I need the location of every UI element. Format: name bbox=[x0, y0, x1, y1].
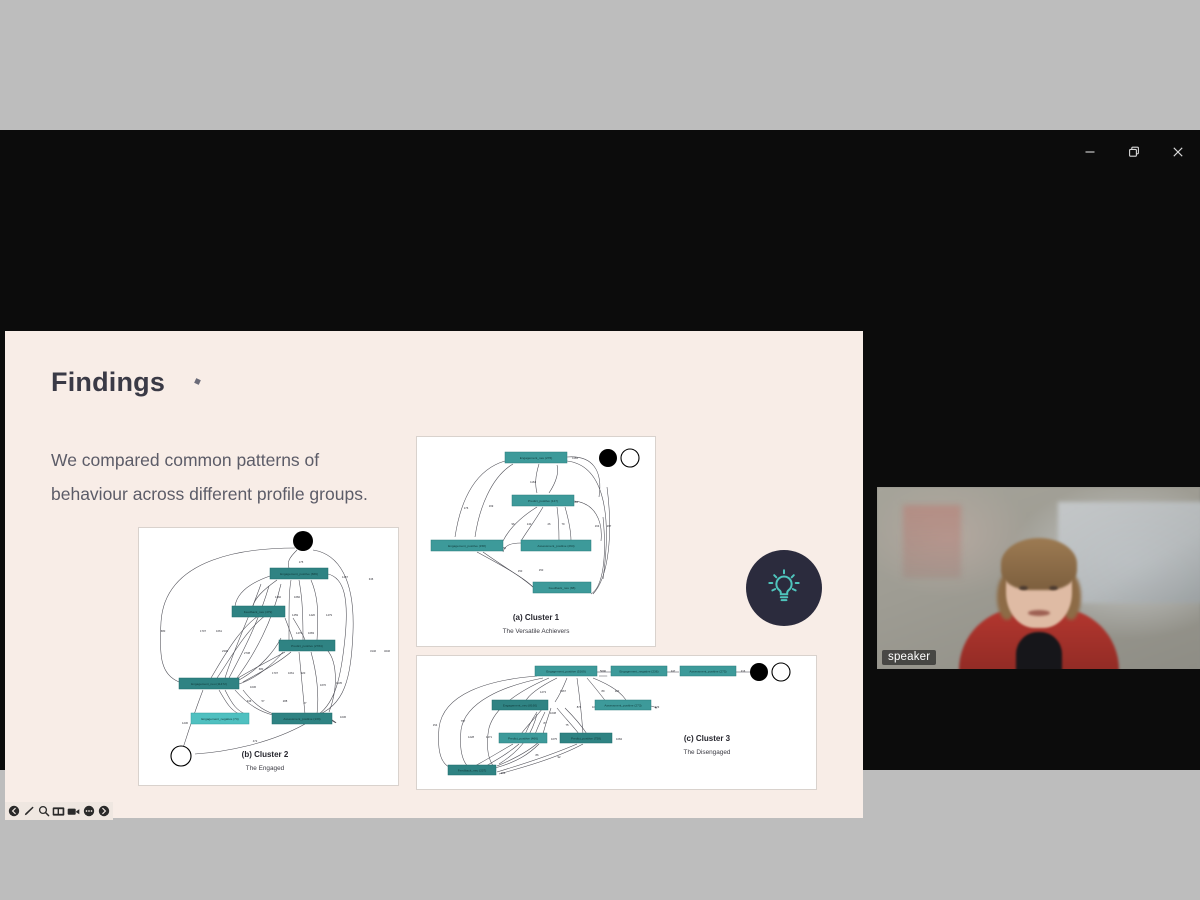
end-node bbox=[772, 663, 790, 681]
diagram-node: Assessment_positive (264) bbox=[521, 540, 591, 551]
svg-text:(a) Cluster 1: (a) Cluster 1 bbox=[513, 613, 560, 622]
svg-text:680: 680 bbox=[161, 629, 166, 633]
start-node bbox=[599, 449, 617, 467]
speaker-mouth bbox=[1028, 610, 1050, 616]
screen-root: Findings We compared common patterns of … bbox=[0, 0, 1200, 900]
svg-text:216: 216 bbox=[741, 669, 746, 673]
svg-text:Engagement_neu (276): Engagement_neu (276) bbox=[520, 456, 553, 460]
speaker-hair bbox=[1001, 538, 1077, 590]
diagram-node: Predict_positive (758) bbox=[560, 733, 612, 743]
svg-text:1479: 1479 bbox=[326, 613, 332, 617]
speaker-shirt bbox=[1016, 632, 1062, 669]
speaker-name-label: speaker bbox=[882, 650, 936, 665]
diagram-node: Engagement_neu (11472) bbox=[179, 678, 239, 689]
svg-text:The Engaged: The Engaged bbox=[246, 765, 285, 772]
svg-text:96: 96 bbox=[512, 522, 515, 526]
speaker-video-tile[interactable]: speaker bbox=[877, 487, 1200, 669]
svg-text:Predict_positive (147): Predict_positive (147) bbox=[528, 499, 558, 503]
right-arrow-circle-icon[interactable] bbox=[97, 805, 110, 818]
svg-text:Engagement_negative (74): Engagement_negative (74) bbox=[201, 717, 238, 721]
svg-text:2738: 2738 bbox=[244, 651, 250, 655]
magnifier-icon[interactable] bbox=[37, 805, 50, 818]
left-arrow-circle-icon[interactable] bbox=[7, 805, 20, 818]
svg-text:1164: 1164 bbox=[572, 456, 578, 460]
svg-text:266: 266 bbox=[501, 771, 506, 775]
svg-text:247: 247 bbox=[671, 669, 676, 673]
svg-text:3146: 3146 bbox=[370, 649, 376, 653]
svg-text:1230: 1230 bbox=[182, 721, 188, 725]
svg-text:Predict_positive (758): Predict_positive (758) bbox=[571, 737, 601, 741]
svg-text:Assessment_positive (273): Assessment_positive (273) bbox=[604, 704, 641, 708]
svg-text:767: 767 bbox=[461, 719, 466, 723]
svg-text:5090: 5090 bbox=[600, 669, 606, 673]
svg-text:Predict_positive (2784): Predict_positive (2784) bbox=[291, 644, 323, 648]
svg-text:26: 26 bbox=[548, 522, 551, 526]
svg-text:Assessment_positive (275): Assessment_positive (275) bbox=[689, 670, 726, 674]
svg-text:150: 150 bbox=[539, 568, 544, 572]
svg-text:Engagement_neu (11472): Engagement_neu (11472) bbox=[191, 682, 227, 686]
diagram-node: Engagement_negative (74) bbox=[191, 713, 249, 724]
start-node bbox=[293, 531, 313, 551]
presentation-window: Findings We compared common patterns of … bbox=[0, 130, 1200, 770]
svg-text:75: 75 bbox=[566, 723, 569, 727]
svg-text:1482: 1482 bbox=[275, 595, 281, 599]
slides-grid-icon[interactable] bbox=[52, 805, 65, 818]
end-node bbox=[621, 449, 639, 467]
minimize-button[interactable] bbox=[1068, 130, 1112, 174]
svg-text:57: 57 bbox=[262, 699, 265, 703]
svg-text:1707: 1707 bbox=[272, 671, 278, 675]
svg-text:1682: 1682 bbox=[294, 595, 300, 599]
svg-text:3246: 3246 bbox=[384, 649, 390, 653]
figure-cluster-2: 175 1482 1682 1420 1459 1479 1457 1479 1… bbox=[138, 527, 399, 786]
page-title: Findings bbox=[51, 367, 165, 398]
svg-text:154: 154 bbox=[433, 723, 438, 727]
diagram-node: Predict_positive (466) bbox=[499, 733, 547, 743]
svg-text:1471: 1471 bbox=[486, 735, 492, 739]
svg-text:1273: 1273 bbox=[540, 690, 546, 694]
svg-text:Engagement_neu (8160): Engagement_neu (8160) bbox=[503, 704, 537, 708]
diagram-node: Predict_positive (2784) bbox=[279, 640, 335, 651]
slide-body-text: We compared common patterns of behaviour… bbox=[51, 443, 381, 511]
svg-text:472: 472 bbox=[253, 739, 258, 743]
speaker-eye-right bbox=[1049, 586, 1058, 590]
svg-text:1661: 1661 bbox=[216, 629, 222, 633]
diagram-node: Engagement_positive (669) bbox=[270, 568, 328, 579]
speaker-person bbox=[959, 526, 1119, 669]
svg-text:Engagement_positive (5169): Engagement_positive (5169) bbox=[546, 670, 586, 674]
svg-text:1479: 1479 bbox=[296, 631, 302, 635]
speaker-eye-left bbox=[1019, 586, 1028, 590]
svg-text:Engagement_positive (669): Engagement_positive (669) bbox=[280, 572, 318, 576]
svg-text:1467: 1467 bbox=[560, 689, 566, 693]
svg-text:1036: 1036 bbox=[340, 715, 346, 719]
close-button[interactable] bbox=[1156, 130, 1200, 174]
window-controls bbox=[1068, 130, 1200, 174]
svg-text:874: 874 bbox=[577, 705, 582, 709]
svg-text:27: 27 bbox=[304, 701, 307, 705]
svg-text:175: 175 bbox=[299, 560, 304, 564]
svg-text:267: 267 bbox=[607, 524, 612, 528]
svg-text:1661: 1661 bbox=[288, 671, 294, 675]
diagram-node: Feedback_neu (479) bbox=[232, 606, 285, 617]
svg-text:920: 920 bbox=[301, 671, 306, 675]
diagram-node: Feedback_neu (237) bbox=[448, 765, 496, 775]
svg-text:Engagement_positive (158): Engagement_positive (158) bbox=[448, 544, 486, 548]
svg-text:1036: 1036 bbox=[250, 685, 256, 689]
svg-text:Feedback_neu (237): Feedback_neu (237) bbox=[458, 769, 487, 773]
svg-text:Assessment_positive (133): Assessment_positive (133) bbox=[283, 717, 320, 721]
diagram-node: Engagement_negative (236) bbox=[611, 666, 667, 676]
svg-text:122: 122 bbox=[615, 689, 620, 693]
svg-text:1683: 1683 bbox=[308, 631, 314, 635]
svg-text:86: 86 bbox=[536, 753, 539, 757]
svg-text:1164: 1164 bbox=[530, 480, 536, 484]
figure-cluster-3: 5090 247 216 1273 1467 89 122 874 1088 2… bbox=[416, 655, 817, 790]
figure-cluster-1: 176 169 1164 1164 1164 96 140 26 79 150 … bbox=[416, 436, 656, 647]
ellipsis-circle-icon[interactable] bbox=[82, 805, 95, 818]
svg-text:Feedback_neu (479): Feedback_neu (479) bbox=[244, 610, 273, 614]
svg-text:1075: 1075 bbox=[551, 737, 557, 741]
svg-text:1084: 1084 bbox=[616, 737, 622, 741]
svg-text:Assessment_positive (264): Assessment_positive (264) bbox=[537, 544, 574, 548]
end-node bbox=[171, 746, 191, 766]
diagram-node: Engagement_neu (8160) bbox=[492, 700, 548, 710]
svg-text:1459: 1459 bbox=[292, 613, 298, 617]
svg-text:(b) Cluster 2: (b) Cluster 2 bbox=[242, 750, 289, 759]
diagram-node: Feedback_neu (88) bbox=[533, 582, 591, 593]
svg-text:1038: 1038 bbox=[550, 711, 556, 715]
svg-text:2300: 2300 bbox=[222, 649, 228, 653]
diagram-node: Predict_positive (147) bbox=[512, 495, 574, 506]
svg-text:346: 346 bbox=[369, 577, 374, 581]
svg-text:1035: 1035 bbox=[336, 681, 342, 685]
window-titlebar bbox=[0, 130, 1200, 174]
svg-text:169: 169 bbox=[489, 504, 494, 508]
svg-text:(c) Cluster 3: (c) Cluster 3 bbox=[684, 734, 731, 743]
diagram-node: Assessment_positive (133) bbox=[272, 713, 332, 724]
start-node bbox=[750, 663, 768, 681]
svg-text:92: 92 bbox=[558, 755, 561, 759]
video-camera-icon[interactable] bbox=[67, 805, 80, 818]
diagram-node: Assessment_positive (273) bbox=[595, 700, 651, 710]
svg-text:Feedback_neu (88): Feedback_neu (88) bbox=[549, 586, 576, 590]
svg-text:The Disengaged: The Disengaged bbox=[684, 749, 731, 756]
diagram-node: Engagement_positive (5169) bbox=[535, 666, 597, 676]
svg-text:1228: 1228 bbox=[468, 735, 474, 739]
svg-text:The Versatile Achievers: The Versatile Achievers bbox=[503, 628, 570, 635]
svg-text:140: 140 bbox=[527, 522, 532, 526]
svg-text:89: 89 bbox=[602, 689, 605, 693]
background-poster bbox=[903, 505, 961, 578]
svg-text:163: 163 bbox=[595, 524, 600, 528]
pen-icon[interactable] bbox=[22, 805, 35, 818]
svg-text:1457: 1457 bbox=[342, 575, 348, 579]
restore-button[interactable] bbox=[1112, 130, 1156, 174]
svg-text:1707: 1707 bbox=[200, 629, 206, 633]
slide-toolbar bbox=[5, 802, 113, 820]
svg-text:87: 87 bbox=[544, 721, 547, 725]
svg-text:Predict_positive (466): Predict_positive (466) bbox=[508, 737, 538, 741]
svg-text:1420: 1420 bbox=[309, 613, 315, 617]
svg-text:150: 150 bbox=[518, 569, 523, 573]
svg-text:1670: 1670 bbox=[320, 683, 326, 687]
svg-text:346: 346 bbox=[247, 699, 252, 703]
svg-text:176: 176 bbox=[464, 506, 469, 510]
svg-text:79: 79 bbox=[562, 522, 565, 526]
diagram-node: Engagement_neu (276) bbox=[505, 452, 567, 463]
svg-text:680: 680 bbox=[259, 667, 264, 671]
presentation-slide: Findings We compared common patterns of … bbox=[5, 331, 863, 818]
svg-text:273: 273 bbox=[655, 705, 660, 709]
diagram-node: Engagement_positive (158) bbox=[431, 540, 503, 551]
svg-text:288: 288 bbox=[283, 699, 288, 703]
lightbulb-icon bbox=[746, 550, 822, 626]
title-decoration-mark bbox=[194, 378, 201, 385]
svg-text:Engagement_negative (236): Engagement_negative (236) bbox=[619, 670, 658, 674]
diagram-node: Assessment_positive (275) bbox=[680, 666, 736, 676]
